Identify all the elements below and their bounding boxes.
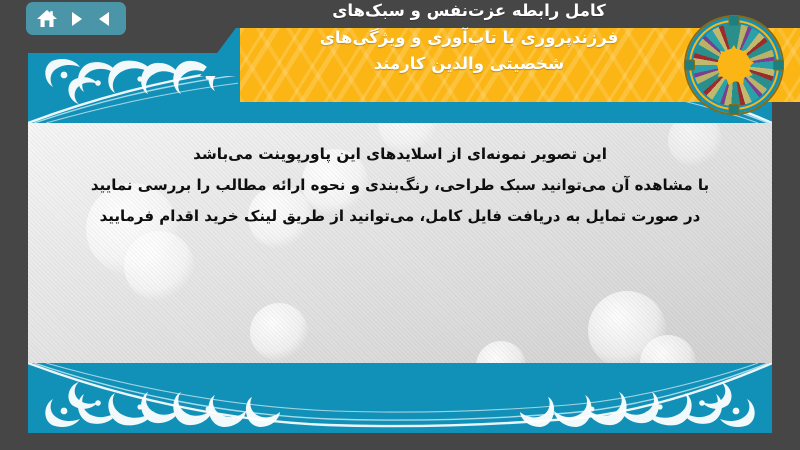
medallion-knob-north bbox=[729, 15, 740, 26]
slide-paper-background bbox=[28, 53, 772, 433]
persian-medallion-icon bbox=[686, 17, 782, 113]
bokeh-circle bbox=[248, 185, 312, 249]
bokeh-circle bbox=[124, 231, 194, 301]
bokeh-circle bbox=[86, 183, 178, 275]
medallion-knob-west bbox=[684, 60, 695, 71]
medallion-knob-east bbox=[773, 60, 784, 71]
home-button[interactable] bbox=[35, 7, 59, 31]
bokeh-circle bbox=[640, 335, 696, 391]
bokeh-circle bbox=[378, 93, 438, 153]
slide-canvas: این تصویر نمونه‌ای از اسلایدهای این پاور… bbox=[0, 0, 800, 450]
medallion-star-center bbox=[714, 45, 754, 85]
navigation-controls[interactable] bbox=[26, 2, 126, 35]
bokeh-circle bbox=[250, 303, 308, 361]
bokeh-circle bbox=[302, 149, 368, 215]
bokeh-circle bbox=[668, 113, 722, 167]
bokeh-circle bbox=[588, 291, 666, 369]
back-button[interactable] bbox=[93, 7, 117, 31]
medallion-knob-south bbox=[729, 104, 740, 115]
forward-button[interactable] bbox=[64, 7, 88, 31]
content-frame: این تصویر نمونه‌ای از اسلایدهای این پاور… bbox=[28, 53, 772, 433]
bokeh-circle bbox=[476, 341, 526, 391]
